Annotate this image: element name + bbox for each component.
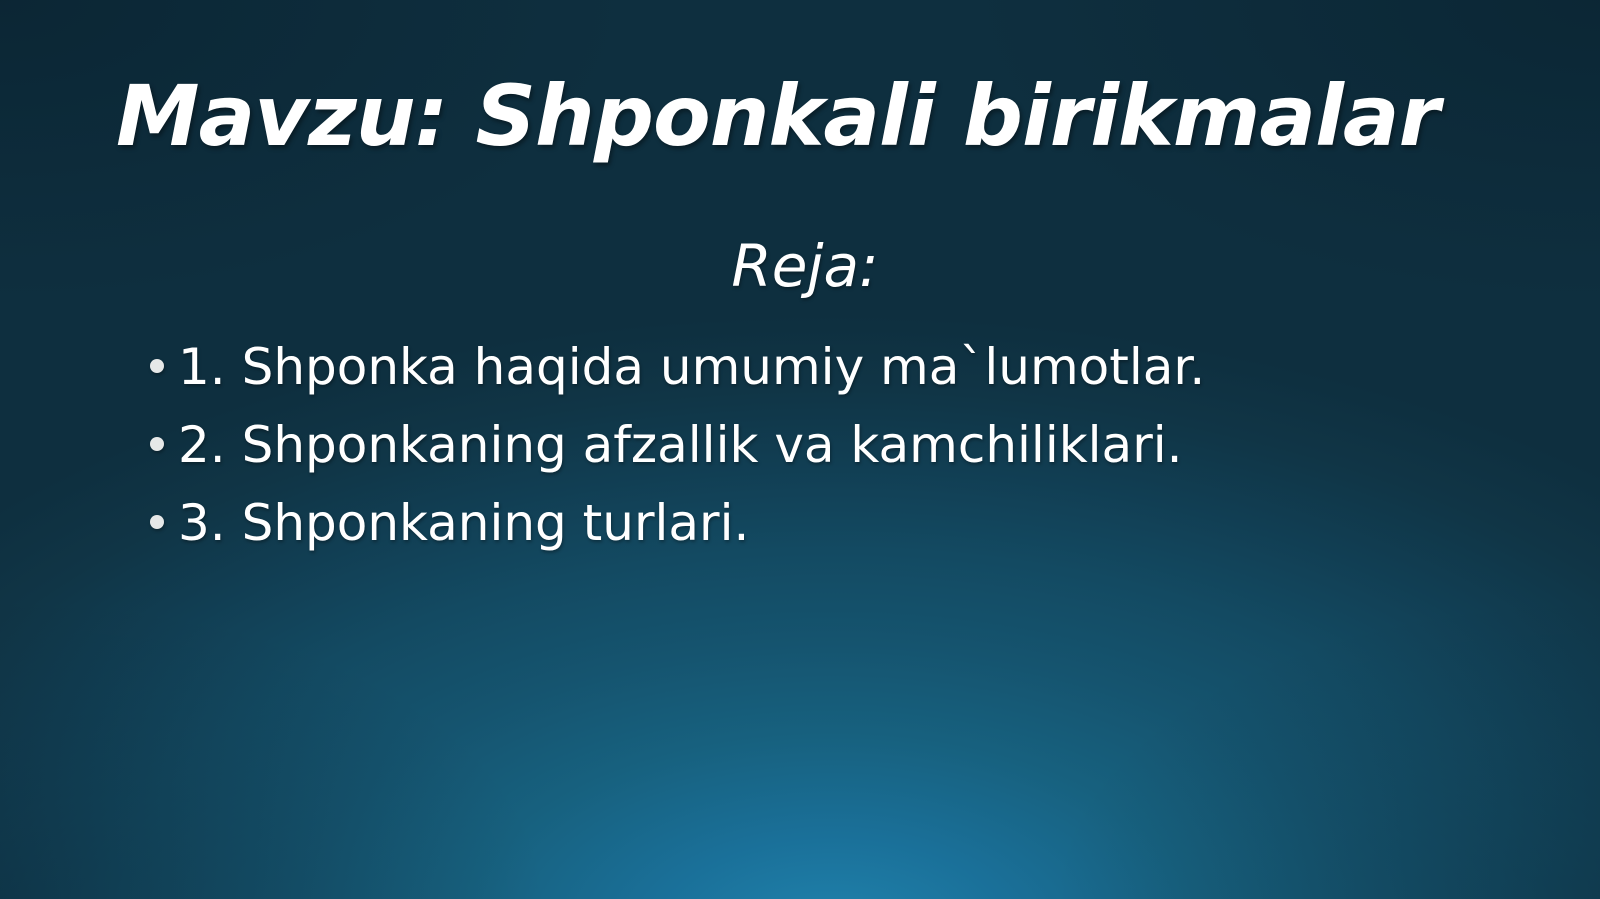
slide-content: Mavzu: Shponkali birikmalar Reja: 1. Shp… xyxy=(0,0,1600,899)
slide-subtitle: Reja: xyxy=(150,236,1460,297)
list-item: 2. Shponkaning afzallik va kamchiliklari… xyxy=(150,410,1480,488)
bullet-dot-icon xyxy=(150,359,164,373)
bullet-dot-icon xyxy=(150,515,164,529)
list-item-label: 3. Shponkaning turlari. xyxy=(178,488,749,558)
list-item: 3. Shponkaning turlari. xyxy=(150,488,1480,566)
agenda-list: 1. Shponka haqida umumiy ma`lumotlar. 2.… xyxy=(150,332,1480,566)
presentation-slide: Mavzu: Shponkali birikmalar Reja: 1. Shp… xyxy=(0,0,1600,899)
list-item: 1. Shponka haqida umumiy ma`lumotlar. xyxy=(150,332,1480,410)
bullet-dot-icon xyxy=(150,437,164,451)
list-item-label: 1. Shponka haqida umumiy ma`lumotlar. xyxy=(178,332,1205,402)
slide-title: Mavzu: Shponkali birikmalar xyxy=(116,74,1496,158)
list-item-label: 2. Shponkaning afzallik va kamchiliklari… xyxy=(178,410,1183,480)
